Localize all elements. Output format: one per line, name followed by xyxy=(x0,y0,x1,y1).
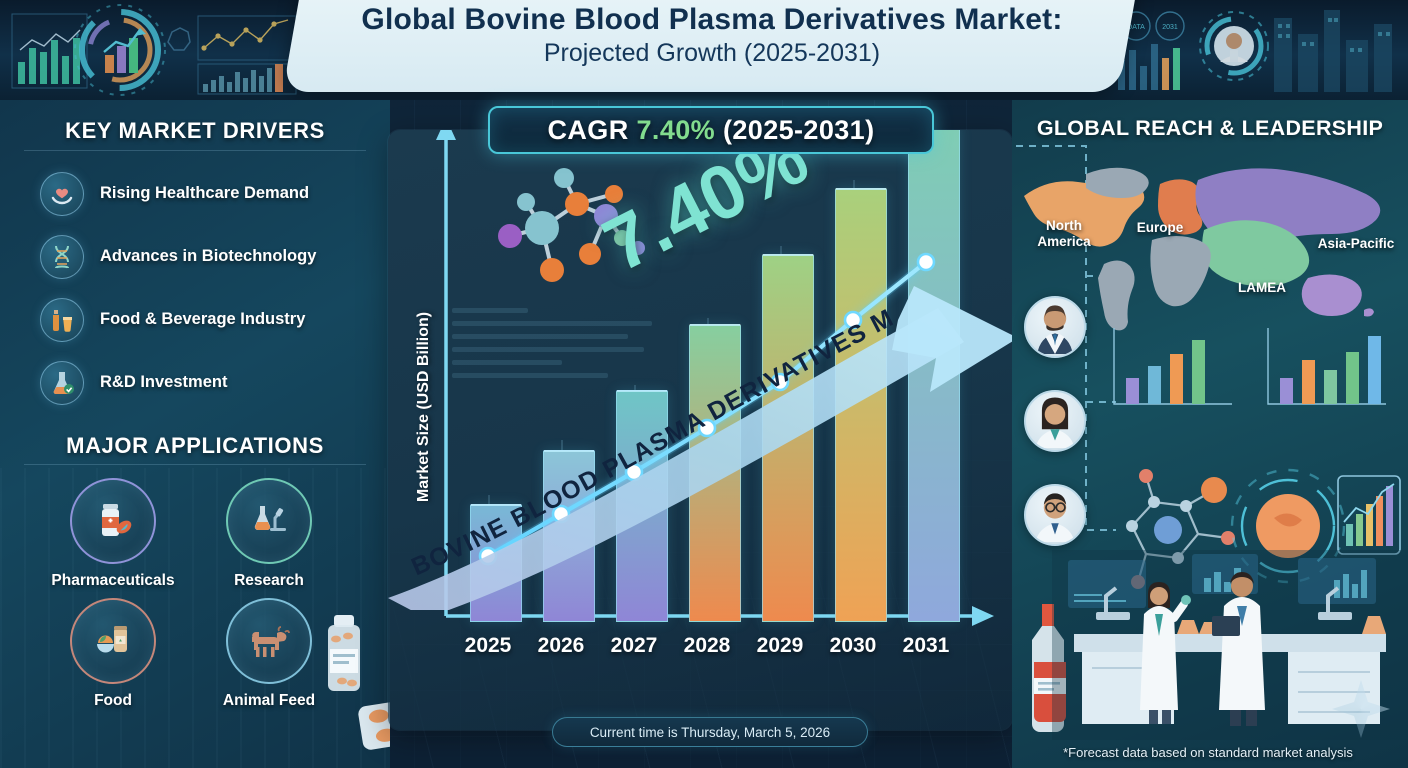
driver-item[interactable]: R&D Investment xyxy=(40,351,380,414)
avatar[interactable] xyxy=(1024,484,1086,546)
bottle-and-glass-icon xyxy=(40,298,84,342)
application-label: Food xyxy=(46,692,180,710)
cagr-period: (2025-2031) xyxy=(723,115,875,145)
leadership-avatars xyxy=(1024,296,1086,578)
region-label-europe: Europe xyxy=(1122,220,1198,236)
application-label: Pharmaceuticals xyxy=(46,572,180,590)
food-bowl-jar-icon xyxy=(70,598,156,684)
applications-divider xyxy=(24,464,366,465)
driver-label: Food & Beverage Industry xyxy=(100,310,305,329)
driver-label: R&D Investment xyxy=(100,373,227,392)
major-applications-title: MAJOR APPLICATIONS xyxy=(0,433,390,459)
header-right-dashboard-graphic: DATA2031 xyxy=(1108,0,1408,100)
pill-bottle-blister-graphic xyxy=(312,591,390,756)
drivers-divider xyxy=(24,150,366,151)
header-band: DATA2031 xyxy=(0,0,1408,100)
cow-icon xyxy=(226,598,312,684)
region-label-asia-pacific: Asia-Pacific xyxy=(1306,236,1406,252)
header-left-dashboard-graphic xyxy=(0,0,300,100)
left-sidebar: KEY MARKET DRIVERS Rising Healthcare Dem… xyxy=(0,100,390,768)
infographic-canvas: DATA2031 xyxy=(0,0,1408,768)
x-label-2029: 2029 xyxy=(745,634,815,658)
x-axis-labels: 2025 2026 2027 2028 2029 2030 2031 xyxy=(444,634,994,668)
x-label-2025: 2025 xyxy=(453,634,523,658)
x-label-2027: 2027 xyxy=(599,634,669,658)
right-panel: GLOBAL REACH & LEADERSHIP North America … xyxy=(1012,100,1408,768)
forecast-footnote: *Forecast data based on standard market … xyxy=(1012,745,1404,760)
svg-text:2031: 2031 xyxy=(1162,24,1178,31)
driver-item[interactable]: Rising Healthcare Demand xyxy=(40,162,380,225)
x-label-2028: 2028 xyxy=(672,634,742,658)
key-market-drivers-title: KEY MARKET DRIVERS xyxy=(0,118,390,144)
data-point-2029 xyxy=(772,374,788,390)
timestamp-badge: Current time is Thursday, March 5, 2026 xyxy=(552,717,868,747)
application-item[interactable]: Pharmaceuticals xyxy=(46,478,180,590)
y-axis-label: Market Size (USD Billion) xyxy=(415,267,433,547)
timestamp-text: Current time is Thursday, March 5, 2026 xyxy=(590,725,830,740)
x-label-2030: 2030 xyxy=(818,634,888,658)
page-title-line2: Projected Growth (2025-2031) xyxy=(294,38,1130,69)
region-label-lamea: LAMEA xyxy=(1224,280,1300,296)
driver-label: Rising Healthcare Demand xyxy=(100,184,309,203)
heart-in-hands-icon xyxy=(40,172,84,216)
driver-label: Advances in Biotechnology xyxy=(100,247,316,266)
data-point-2031 xyxy=(918,254,934,270)
avatar[interactable] xyxy=(1024,390,1086,452)
drivers-list: Rising Healthcare Demand Advances in Bio… xyxy=(40,162,380,414)
applications-grid: Pharmaceuticals Research xyxy=(46,478,336,710)
flask-growth-icon xyxy=(40,361,84,405)
cagr-value: 7.40% xyxy=(637,115,716,145)
application-item[interactable]: Food xyxy=(46,598,180,710)
application-label: Research xyxy=(202,572,336,590)
data-point-2025 xyxy=(480,548,496,564)
mini-bar-charts xyxy=(1108,322,1398,412)
page-title-line1: Global Bovine Blood Plasma Derivatives M… xyxy=(294,4,1130,36)
data-point-2028 xyxy=(699,420,715,436)
x-label-2031: 2031 xyxy=(891,634,961,658)
region-label-north-america: North America xyxy=(1018,218,1110,249)
title-plate: Global Bovine Blood Plasma Derivatives M… xyxy=(283,0,1138,92)
data-point-2026 xyxy=(553,506,569,522)
avatar[interactable] xyxy=(1024,296,1086,358)
driver-item[interactable]: Food & Beverage Industry xyxy=(40,288,380,351)
data-point-2027 xyxy=(626,464,642,480)
driver-item[interactable]: Advances in Biotechnology xyxy=(40,225,380,288)
application-item[interactable]: Research xyxy=(202,478,336,590)
chart-panel: Market Size (USD Billion) xyxy=(388,130,1012,730)
dna-helix-icon xyxy=(40,235,84,279)
cagr-prefix: CAGR xyxy=(548,115,629,145)
cagr-badge: CAGR 7.40% (2025-2031) xyxy=(488,106,934,154)
x-label-2026: 2026 xyxy=(526,634,596,658)
microscope-flask-icon xyxy=(226,478,312,564)
data-point-2030 xyxy=(845,312,861,328)
pill-bottle-icon xyxy=(70,478,156,564)
